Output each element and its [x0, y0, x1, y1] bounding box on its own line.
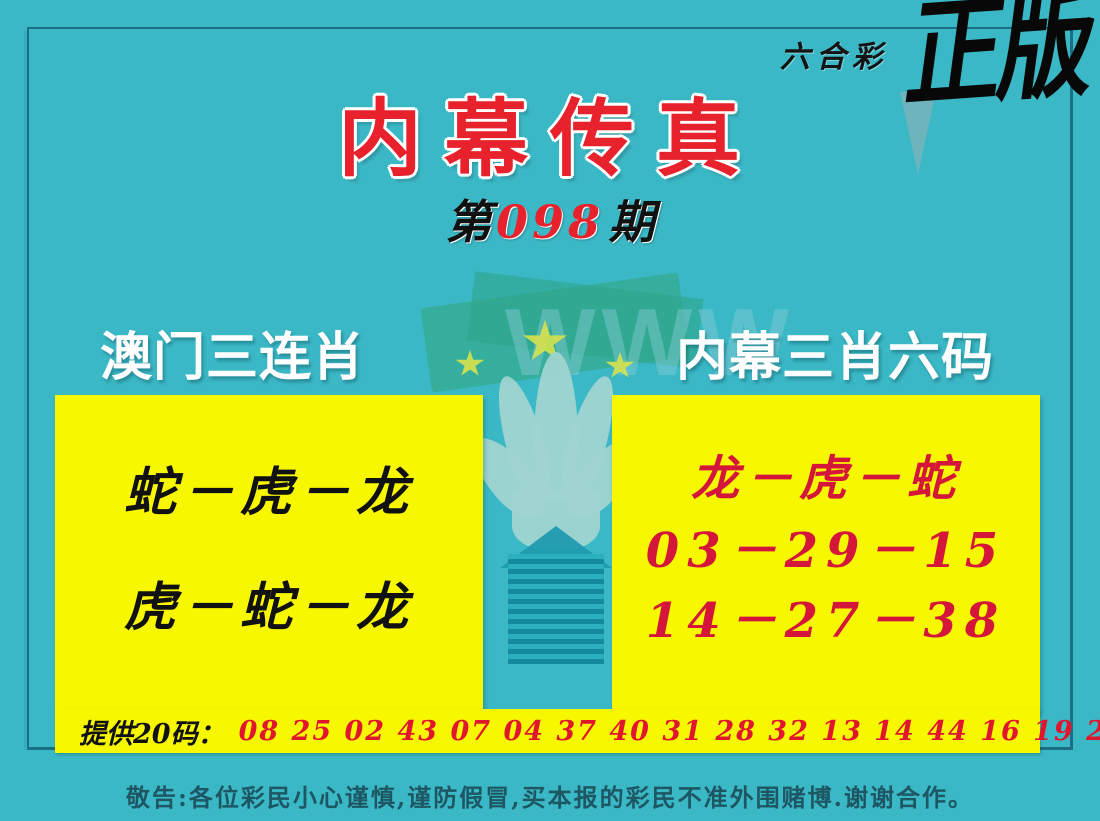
prediction-panel-left: 蛇－虎－龙 虎－蛇－龙 [55, 395, 483, 713]
issue-number-row: 第 098 期 [0, 186, 1100, 252]
code-strip-numbers: 08 25 02 43 07 04 37 40 31 28 32 13 14 4… [239, 716, 1100, 747]
prediction-line: 14－27－38 [612, 581, 1040, 651]
code-strip-label: 提供20码： [79, 712, 225, 751]
poster-canvas: WWW 六合彩 正版 内幕传真 第 098 期 澳门三连肖 内幕三肖六码 蛇－虎… [0, 0, 1100, 821]
prediction-line: 蛇－虎－龙 [55, 450, 483, 525]
prediction-line: 龙－虎－蛇 [612, 439, 1040, 509]
issue-number: 098 [496, 195, 604, 249]
page-title: 内幕传真 [0, 72, 1100, 193]
column-heading-right: 内幕三肖六码 [676, 315, 994, 390]
prediction-line: 虎－蛇－龙 [55, 565, 483, 640]
issue-prefix: 第 [446, 195, 492, 249]
column-heading-left: 澳门三连肖 [100, 315, 365, 390]
issue-suffix: 期 [608, 195, 654, 249]
footer-disclaimer: 敬告:各位彩民小心谨慎,谨防假冒,买本报的彩民不准外围赌博.谢谢合作。 [0, 778, 1100, 813]
brand-label: 六合彩 [780, 32, 888, 76]
prediction-panel-right: 龙－虎－蛇 03－29－15 14－27－38 [612, 395, 1040, 713]
prediction-line: 03－29－15 [612, 511, 1040, 581]
code-strip: 提供20码： 08 25 02 43 07 04 37 40 31 28 32 … [55, 709, 1040, 753]
